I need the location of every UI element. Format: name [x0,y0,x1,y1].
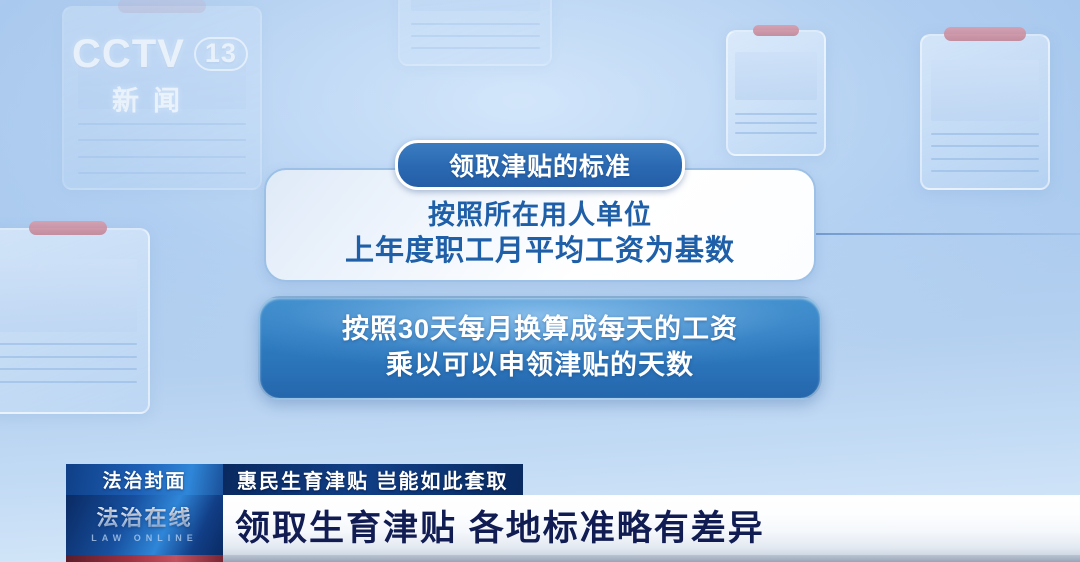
document-tab-icon [118,0,206,13]
banner-top-row: 法治封面 惠民生育津贴 岂能如此套取 [66,464,523,495]
decorative-document-card [0,228,150,414]
headline-bar: 领取生育津贴 各地标准略有差异 [223,495,1080,555]
category-label-text: 法治封面 [102,466,186,493]
program-name-en: LAW ONLINE [91,533,198,543]
decorative-document-card [62,6,262,190]
decorative-document-card [726,30,826,156]
document-line [411,47,540,49]
standard-badge-label: 领取津贴的标准 [449,147,631,183]
document-line [78,139,247,141]
document-line [0,343,137,345]
document-line [931,158,1039,160]
lower-third-banner: 法治封面 惠民生育津贴 岂能如此套取 法治在线 LAW ONLINE 领取生育津… [0,464,1080,562]
calculation-line-1: 按照30天每月换算成每天的工资 [342,312,738,348]
basis-line-1: 按照所在用人单位 [428,198,652,233]
category-label: 法治封面 [66,464,223,495]
decorative-document-card [398,0,552,66]
document-line [78,123,247,125]
document-panel [78,37,247,109]
document-line [411,35,540,37]
banner-grey-edge [223,555,1080,562]
document-line [78,156,247,158]
document-line [411,23,540,25]
document-line [78,172,247,174]
subheadline-text: 惠民生育津贴 岂能如此套取 [237,465,509,494]
banner-bottom-row: 法治在线 LAW ONLINE 领取生育津贴 各地标准略有差异 [0,495,1080,562]
document-line [735,122,818,124]
program-name-zh: 法治在线 [96,507,192,529]
document-line [0,356,137,358]
calculation-info-card: 按照30天每月换算成每天的工资 乘以可以申领津贴的天数 [258,296,822,400]
document-panel [931,60,1039,121]
document-line [735,132,818,134]
info-card-cluster: 领取津贴的标准 按照所在用人单位 上年度职工月平均工资为基数 按照30天每月换算… [256,140,824,400]
document-line [931,170,1039,172]
document-tab-icon [944,27,1026,41]
document-panel [411,0,540,11]
document-line [0,368,137,370]
document-line [735,113,818,115]
banner-red-accent [66,555,223,562]
standard-badge: 领取津贴的标准 [395,140,685,190]
subheadline-strip: 惠民生育津贴 岂能如此套取 [223,464,523,495]
program-logo: 法治在线 LAW ONLINE [66,495,223,555]
decorative-document-card [920,34,1050,190]
document-tab-icon [753,25,799,36]
broadcast-frame: CCTV13 新闻 领取津贴的标准 按照所在用人单位 上年度职工月平均工资为基数… [0,0,1080,562]
document-tab-icon [29,221,107,235]
basis-line-2: 上年度职工月平均工资为基数 [345,233,735,270]
document-line [0,381,137,383]
headline-text: 领取生育津贴 各地标准略有差异 [235,500,765,551]
document-panel [0,259,137,332]
calculation-line-2: 乘以可以申领津贴的天数 [386,348,694,384]
document-line [931,145,1039,147]
document-line [931,133,1039,135]
document-panel [735,52,818,101]
